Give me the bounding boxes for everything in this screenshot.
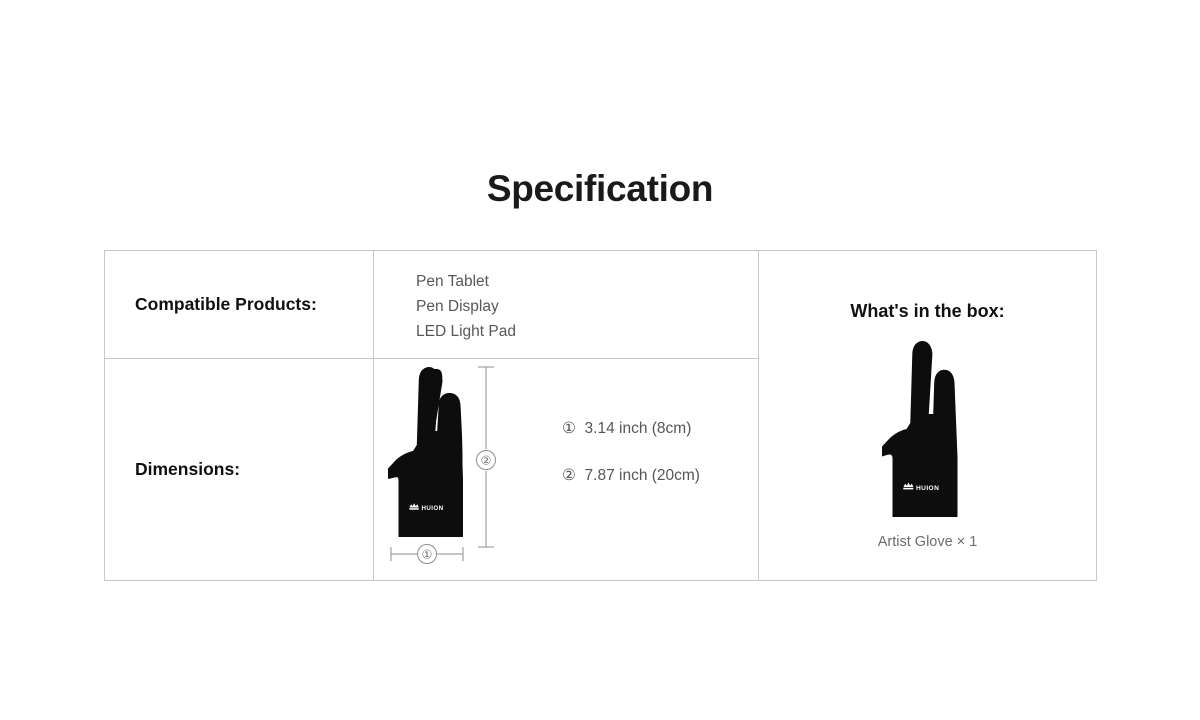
svg-text:HUION: HUION (916, 485, 939, 492)
glove-dimension-diagram: HUION ② (374, 359, 564, 580)
measurement-marker: ① (562, 420, 576, 437)
specification-table: Compatible Products: Pen Tablet Pen Disp… (104, 250, 1097, 581)
measurement-row: ② 7.87 inch (20cm) (562, 466, 700, 486)
compatible-products-list: Pen Tablet Pen Display LED Light Pad (374, 251, 758, 344)
whats-in-the-box-title: What's in the box: (759, 301, 1096, 322)
list-item: LED Light Pad (416, 319, 758, 344)
measurement-value: 7.87 inch (20cm) (585, 467, 700, 484)
spec-left-block: Compatible Products: Pen Tablet Pen Disp… (105, 251, 759, 580)
table-row: Dimensions: HUION (105, 359, 758, 580)
width-marker-label: ① (422, 548, 433, 562)
page-title: Specification (0, 168, 1200, 210)
compatible-products-cell: Pen Tablet Pen Display LED Light Pad (374, 251, 758, 358)
table-row: Compatible Products: Pen Tablet Pen Disp… (105, 251, 758, 359)
height-marker-label: ② (481, 454, 492, 468)
compatible-products-label: Compatible Products: (105, 251, 374, 358)
whats-in-the-box-cell: What's in the box: HUION Artist Glove × … (759, 251, 1096, 580)
list-item: Pen Display (416, 294, 758, 319)
dimensions-cell: HUION ② (374, 359, 758, 580)
box-glove-illustration: HUION (875, 335, 980, 525)
svg-text:HUION: HUION (422, 505, 444, 512)
dimension-measurements: ① 3.14 inch (8cm) ② 7.87 inch (20cm) (562, 419, 700, 486)
measurement-row: ① 3.14 inch (8cm) (562, 419, 700, 439)
dimensions-label: Dimensions: (105, 359, 374, 580)
box-contents-caption: Artist Glove × 1 (759, 534, 1096, 550)
list-item: Pen Tablet (416, 269, 758, 294)
measurement-marker: ② (562, 467, 576, 484)
measurement-value: 3.14 inch (8cm) (585, 420, 692, 437)
